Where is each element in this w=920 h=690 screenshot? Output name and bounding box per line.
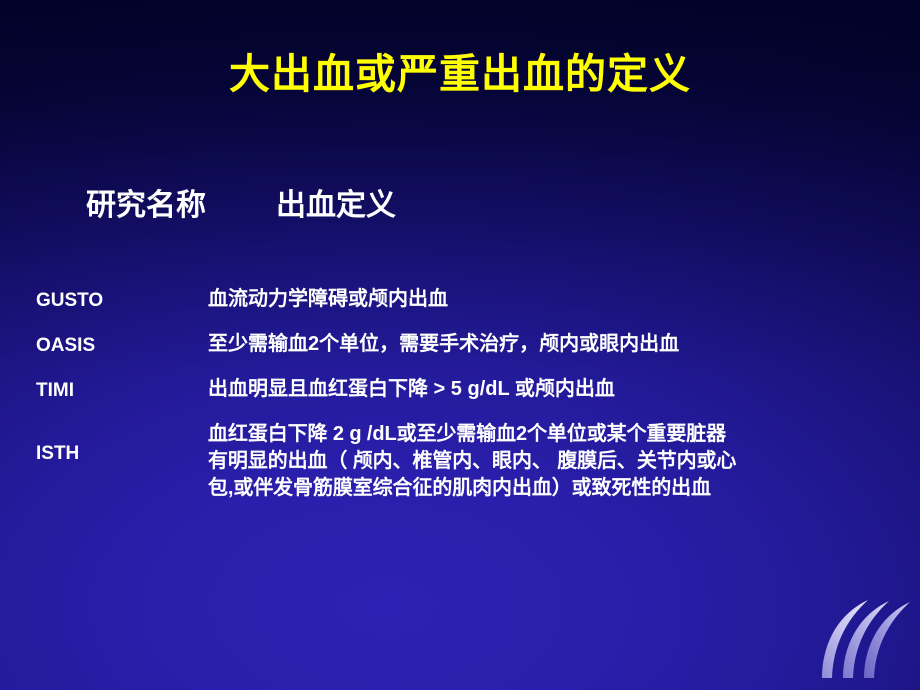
definition-line: 包,或伴发骨筋膜室综合征的肌肉内出血）或致死性的出血 (208, 475, 902, 502)
definition-gusto: 血流动力学障碍或颅内出血 (208, 286, 902, 313)
column-header-bleeding-definition: 出血定义 (276, 188, 396, 224)
definition-line: 血流动力学障碍或颅内出血 (208, 286, 902, 313)
definition-oasis: 至少需输血2个单位，需要手术治疗，颅内或眼内出血 (208, 331, 902, 358)
definition-line: 至少需输血2个单位，需要手术治疗，颅内或眼内出血 (208, 331, 902, 358)
definition-isth: 血红蛋白下降 2 g /dL或至少需输血2个单位或某个重要脏器 有明显的出血（ … (208, 421, 902, 501)
table-row: TIMI 出血明显且血红蛋白下降 > 5 g/dL 或颅内出血 (36, 376, 902, 403)
slide-title: 大出血或严重出血的定义 (0, 52, 920, 98)
study-name-oasis: OASIS (36, 331, 208, 358)
swoosh-logo-icon (816, 598, 912, 684)
table-header-row: 研究名称出血定义 (36, 152, 902, 260)
definition-line: 血红蛋白下降 2 g /dL或至少需输血2个单位或某个重要脏器 (208, 421, 902, 448)
definition-line: 出血明显且血红蛋白下降 > 5 g/dL 或颅内出血 (208, 376, 902, 403)
slide-canvas: 大出血或严重出血的定义 研究名称出血定义 GUSTO 血流动力学障碍或颅内出血 … (0, 0, 920, 690)
definition-timi: 出血明显且血红蛋白下降 > 5 g/dL 或颅内出血 (208, 376, 902, 403)
definitions-table: 研究名称出血定义 GUSTO 血流动力学障碍或颅内出血 OASIS 至少需输血2… (36, 152, 902, 520)
table-row: GUSTO 血流动力学障碍或颅内出血 (36, 286, 902, 313)
table-row: OASIS 至少需输血2个单位，需要手术治疗，颅内或眼内出血 (36, 331, 902, 358)
study-name-timi: TIMI (36, 376, 208, 403)
table-row: ISTH 血红蛋白下降 2 g /dL或至少需输血2个单位或某个重要脏器 有明显… (36, 421, 902, 501)
study-name-isth: ISTH (36, 421, 208, 466)
study-name-gusto: GUSTO (36, 286, 208, 313)
definition-line: 有明显的出血（ 颅内、椎管内、眼内、 腹膜后、关节内或心 (208, 448, 902, 475)
column-header-study-name: 研究名称 (86, 188, 276, 224)
